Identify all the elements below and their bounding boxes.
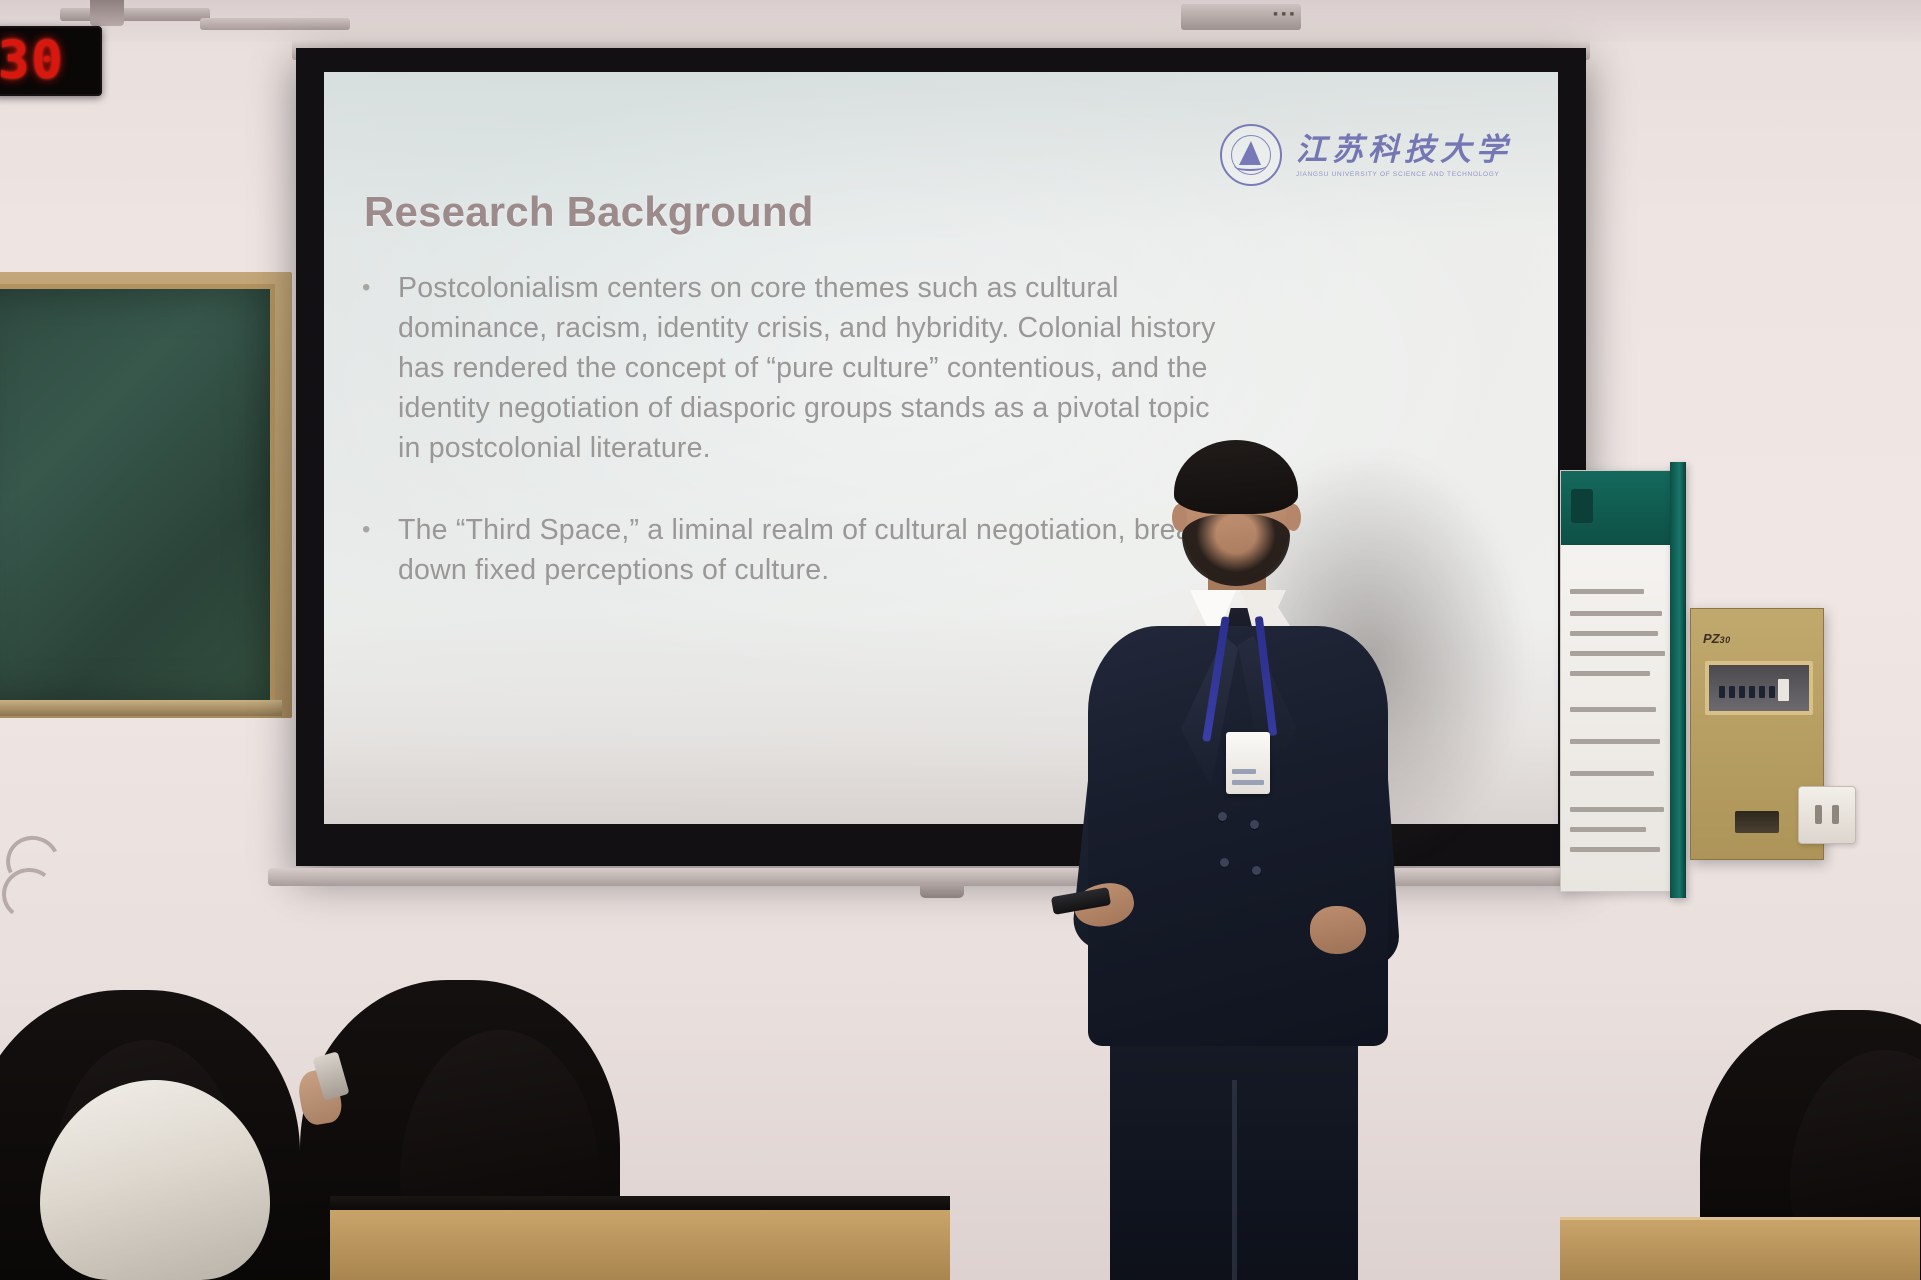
- classroom-scene: ■ ■ ■ 30 Research Background 江苏科技大学 JIAN…: [0, 0, 1921, 1280]
- jacket-button: [1218, 812, 1227, 821]
- poster-text-line: [1570, 631, 1658, 636]
- poster-text-line: [1570, 671, 1650, 676]
- ceiling-rail-a: [60, 8, 210, 21]
- page-title: Research Background: [364, 188, 814, 236]
- bullet-marker-icon: •: [356, 510, 398, 590]
- poster-header-mark-icon: [1571, 489, 1593, 523]
- breaker-switch[interactable]: [1729, 686, 1735, 698]
- breaker-switch[interactable]: [1739, 686, 1745, 698]
- blackboard: [0, 284, 275, 712]
- presenter-suit-jacket: [1088, 626, 1388, 1046]
- poster-text-line: [1570, 771, 1654, 776]
- breaker-switch[interactable]: [1759, 686, 1765, 698]
- safety-instructions-poster: [1560, 470, 1678, 892]
- clock-digits: 30: [0, 34, 65, 88]
- presenter-standing: [1050, 440, 1470, 1280]
- poster-header: [1561, 471, 1677, 545]
- list-item: • Postcolonialism centers on core themes…: [356, 268, 1236, 468]
- poster-text-line: [1570, 827, 1646, 832]
- poster-text-line: [1570, 847, 1660, 852]
- breaker-switch[interactable]: [1719, 686, 1725, 698]
- presenter-hand-right: [1310, 906, 1366, 954]
- badge-text-line: [1232, 769, 1256, 774]
- jacket-button: [1252, 866, 1261, 875]
- panel-brand: PZ: [1703, 631, 1720, 646]
- poster-text-line: [1570, 589, 1644, 594]
- university-name-chinese: 江苏科技大学: [1296, 133, 1512, 167]
- ceiling-speaker-label: ■ ■ ■: [1273, 11, 1295, 18]
- presenter-id-badge: [1226, 732, 1270, 794]
- university-seal-icon: [1220, 124, 1282, 186]
- poster-text-line: [1570, 707, 1656, 712]
- main-breaker-switch[interactable]: [1778, 679, 1789, 701]
- jacket-button: [1220, 858, 1229, 867]
- presenter-ear-right: [1286, 504, 1301, 531]
- wall-power-outlet[interactable]: [1798, 786, 1856, 844]
- breaker-switch[interactable]: [1749, 686, 1755, 698]
- panel-label: PZ30: [1703, 631, 1731, 646]
- panel-model: 30: [1720, 635, 1731, 645]
- university-logo: 江苏科技大学 JIANGSU UNIVERSITY OF SCIENCE AND…: [1220, 124, 1512, 186]
- presenter-ear-left: [1172, 504, 1187, 531]
- digital-wall-clock: 30: [0, 26, 102, 96]
- poster-text-line: [1570, 651, 1665, 656]
- ceiling-rail-b: [200, 18, 350, 30]
- university-name-block: 江苏科技大学 JIANGSU UNIVERSITY OF SCIENCE AND…: [1296, 133, 1512, 178]
- desk-edge-shadow: [330, 1196, 950, 1210]
- presenter-trouser-seam: [1232, 1080, 1237, 1280]
- poster-text-line: [1570, 739, 1660, 744]
- panel-lock-slot[interactable]: [1735, 811, 1779, 833]
- bullet-marker-icon: •: [356, 268, 398, 468]
- ceiling-speaker: ■ ■ ■: [1181, 4, 1301, 30]
- university-name-english: JIANGSU UNIVERSITY OF SCIENCE AND TECHNO…: [1296, 171, 1512, 178]
- wave-shape-icon: [1234, 161, 1266, 171]
- poster-spine: [1670, 462, 1686, 898]
- poster-text-line: [1570, 807, 1664, 812]
- badge-text-line: [1232, 780, 1264, 785]
- ceiling-bracket: [90, 0, 124, 26]
- panel-breaker-window: [1705, 661, 1813, 715]
- blackboard-chalk-rail: [0, 700, 282, 716]
- jacket-button: [1250, 820, 1259, 829]
- bullet-text: Postcolonialism centers on core themes s…: [398, 268, 1236, 468]
- breaker-switch[interactable]: [1769, 686, 1775, 698]
- classroom-desk: [330, 1207, 950, 1280]
- poster-text-line: [1570, 611, 1662, 616]
- classroom-desk: [1560, 1217, 1920, 1280]
